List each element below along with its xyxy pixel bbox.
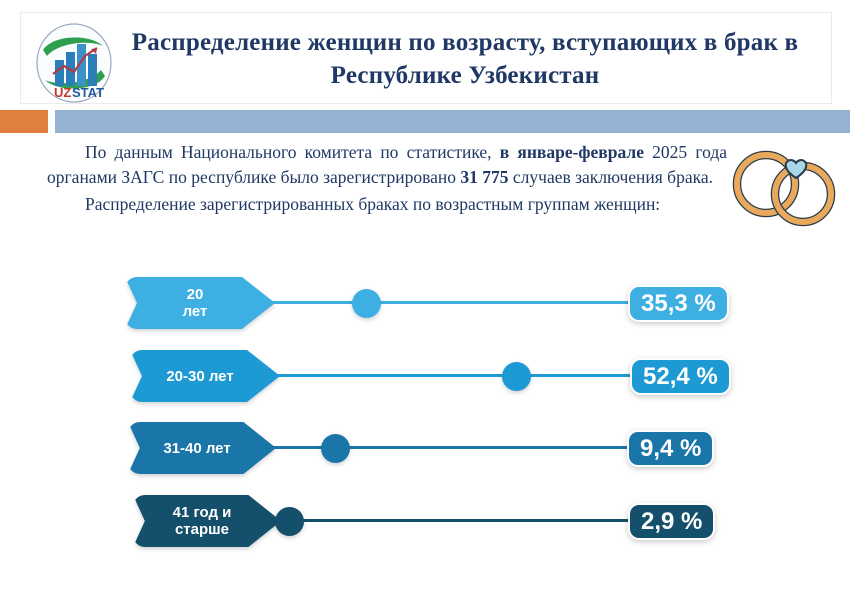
tag-shape [125,277,275,329]
wedding-rings-icon [725,138,843,233]
age-group-label: 31-40 лет [149,440,254,457]
tag-shape [133,495,281,547]
percentage-badge: 35,3 % [628,285,729,322]
age-group-tag[interactable]: 31-40 лет [128,422,276,474]
age-group-label: 41 год истарше [159,504,256,538]
connector-line [277,519,632,522]
percentage-badge: 2,9 % [628,503,715,540]
accent-bar-blue [55,110,850,133]
body-text: По данным Национального комитета по стат… [47,140,727,217]
percentage-badge: 9,4 % [627,430,714,467]
age-group-label: 20-30 лет [152,368,257,385]
percentage-badge: 52,4 % [630,358,731,395]
svg-text:STAT: STAT [72,85,104,100]
tag-shape [130,350,280,402]
uzstat-logo-icon: UZ STAT [33,22,115,104]
chart-row: 31-40 лет9,4 % [0,422,850,474]
age-group-tag[interactable]: 20лет [125,277,275,329]
age-group-label: 20лет [169,286,232,320]
slide-root: UZ STAT Распределение женщин по возрасту… [0,0,850,600]
age-group-tag[interactable]: 41 год истарше [133,495,281,547]
data-point-marker[interactable] [502,362,531,391]
p1-part1: По данным Национального комитета по стат… [85,142,500,162]
connector-line [271,301,632,304]
p1-bold1: в январе-феврале [500,142,644,162]
p1-part3: случаев заключения брака. [509,167,713,187]
connector-line [272,446,631,449]
chart-row: 41 год истарше2,9 % [0,495,850,547]
p1-bold2: 31 775 [460,167,508,187]
chart-row: 20-30 лет52,4 % [0,350,850,402]
page-title: Распределение женщин по возрасту, вступа… [120,26,810,92]
data-point-marker[interactable] [321,434,350,463]
chart-row: 20лет35,3 % [0,277,850,329]
svg-text:UZ: UZ [54,85,71,100]
data-point-marker[interactable] [352,289,381,318]
data-point-marker[interactable] [275,507,304,536]
accent-bar-orange [0,110,48,133]
paragraph-2: Распределение зарегистрированных браках … [47,192,727,217]
tag-shape [128,422,276,474]
paragraph-1: По данным Национального комитета по стат… [47,140,727,190]
connector-line [276,374,634,377]
age-group-tag[interactable]: 20-30 лет [130,350,280,402]
